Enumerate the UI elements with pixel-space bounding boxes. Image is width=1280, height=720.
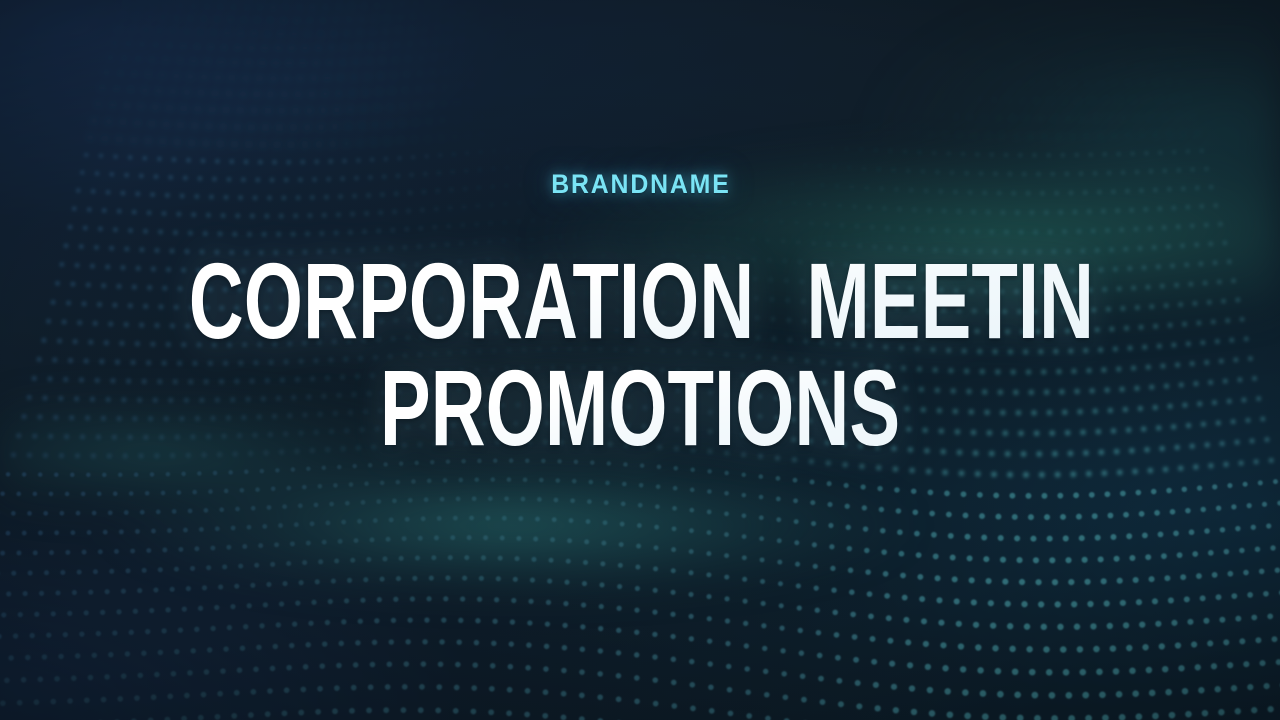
- brand-name-label: BRANDNAME: [51, 171, 1229, 198]
- slide-content: BRANDNAME CORPORATION MEETING PROMOTIONS: [0, 0, 1280, 720]
- slide-canvas: BRANDNAME CORPORATION MEETING PROMOTIONS: [0, 0, 1280, 720]
- headline-line-1: CORPORATION MEETING: [189, 247, 1091, 354]
- headline-block: CORPORATION MEETING PROMOTIONS: [0, 247, 1280, 461]
- headline-line-2: PROMOTIONS: [189, 354, 1091, 461]
